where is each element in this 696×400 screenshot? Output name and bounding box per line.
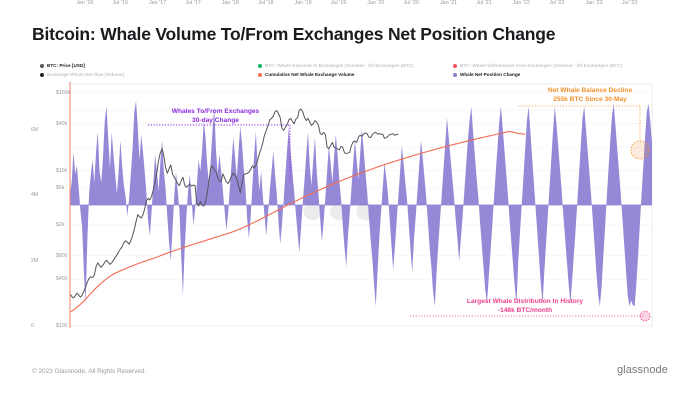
- axis-tick-label: Jan '23: [585, 0, 602, 6]
- legend-item[interactable]: BTC: Whale Deposits to Exchanges (Volume…: [258, 62, 414, 70]
- legend-label: Whale Net Position Change: [460, 72, 520, 78]
- legend-column-right: BTC: Whale Withdrawals from Exchanges (V…: [453, 62, 622, 80]
- axis-tick-label: 4M: [31, 192, 38, 198]
- legend-label: BTC: Price [USD]: [47, 63, 85, 69]
- axis-tick-label: Jan '16: [76, 0, 93, 6]
- legend-swatch-whale-net-position: [453, 73, 457, 77]
- legend-item[interactable]: Exchange Whale Net-flow [Volume]: [40, 71, 124, 79]
- copyright-text: © 2023 Glassnode. All Rights Reserved.: [32, 368, 146, 375]
- legend-item[interactable]: Whale Net Position Change: [453, 71, 622, 79]
- legend-label: BTC: Whale Deposits to Exchanges (Volume…: [265, 63, 414, 69]
- annotation-largest-whale-distribution: Largest Whale Distribution In History -1…: [405, 297, 645, 315]
- legend-item[interactable]: Cumulative Net Whale Exchange Volume: [258, 71, 414, 79]
- axis-tick-label: $2k: [56, 222, 64, 228]
- annotation-line1: Whales To/From Exchanges: [133, 107, 298, 116]
- legend-column-middle: BTC: Whale Deposits to Exchanges (Volume…: [258, 62, 414, 80]
- axis-tick-label: Jul '17: [185, 0, 200, 6]
- annotation-line2: 255k BTC Since 30-May: [515, 95, 665, 104]
- axis-tick-label: Jan '18: [222, 0, 239, 6]
- axis-tick-label: $400: [56, 276, 68, 282]
- axis-tick-label: Jul '20: [404, 0, 419, 6]
- annotation-line2: 30-day Change: [133, 116, 298, 125]
- axis-tick-label: Jul '19: [331, 0, 346, 6]
- axis-tick-label: 2M: [31, 258, 38, 264]
- chart-page: Bitcoin: Whale Volume To/From Exchanges …: [0, 0, 696, 400]
- axis-tick-label: Jul '22: [549, 0, 564, 6]
- axis-tick-label: Jan '17: [149, 0, 166, 6]
- annotation-line1: Largest Whale Distribution In History: [405, 297, 645, 306]
- axis-tick-label: $10k: [56, 168, 67, 174]
- legend-swatch-btc-price: [40, 64, 44, 68]
- axis-tick-label: 6M: [31, 127, 38, 133]
- axis-tick-label: Jul '21: [476, 0, 491, 6]
- axis-tick-label: Jan '19: [294, 0, 311, 6]
- axis-tick-label: Jan '22: [513, 0, 530, 6]
- legend-item[interactable]: BTC: Whale Withdrawals from Exchanges (V…: [453, 62, 622, 70]
- axis-tick-label: $100: [56, 323, 68, 329]
- legend-label: Exchange Whale Net-flow [Volume]: [47, 72, 124, 78]
- legend-swatch-exchange-whale-netflow: [40, 73, 44, 77]
- axis-tick-label: Jul '16: [113, 0, 128, 6]
- legend-swatch-cumulative-net-whale: [258, 73, 262, 77]
- axis-tick-label: Jul '23: [622, 0, 637, 6]
- chart-legend: BTC: Price [USD] Exchange Whale Net-flow…: [40, 62, 670, 80]
- page-title: Bitcoin: Whale Volume To/From Exchanges …: [32, 24, 555, 45]
- annotation-line1: Net Whale Balance Decline: [515, 86, 665, 95]
- axis-tick-label: Jul '18: [258, 0, 273, 6]
- axis-tick-label: $40k: [56, 121, 67, 127]
- brand-logo: glassnode: [617, 364, 668, 376]
- annotation-net-whale-balance-decline: Net Whale Balance Decline 255k BTC Since…: [515, 86, 665, 104]
- axis-tick-label: Jan '20: [367, 0, 384, 6]
- legend-swatch-whale-withdrawals: [453, 64, 457, 68]
- annotation-whales-30day-change: Whales To/From Exchanges 30-day Change: [133, 107, 298, 125]
- legend-label: BTC: Whale Withdrawals from Exchanges (V…: [460, 63, 622, 69]
- annotation-line2: -148k BTC/month: [405, 306, 645, 315]
- axis-tick-label: Jan '21: [440, 0, 457, 6]
- legend-item[interactable]: BTC: Price [USD]: [40, 62, 124, 70]
- axis-tick-label: $800: [56, 253, 68, 259]
- legend-label: Cumulative Net Whale Exchange Volume: [265, 72, 354, 78]
- watermark: ●●●: [300, 185, 379, 233]
- axis-tick-label: $100k: [56, 90, 70, 96]
- legend-column-left: BTC: Price [USD] Exchange Whale Net-flow…: [40, 62, 124, 80]
- legend-swatch-whale-deposits: [258, 64, 262, 68]
- axis-tick-label: $6k: [56, 185, 64, 191]
- axis-tick-label: 0: [31, 323, 34, 329]
